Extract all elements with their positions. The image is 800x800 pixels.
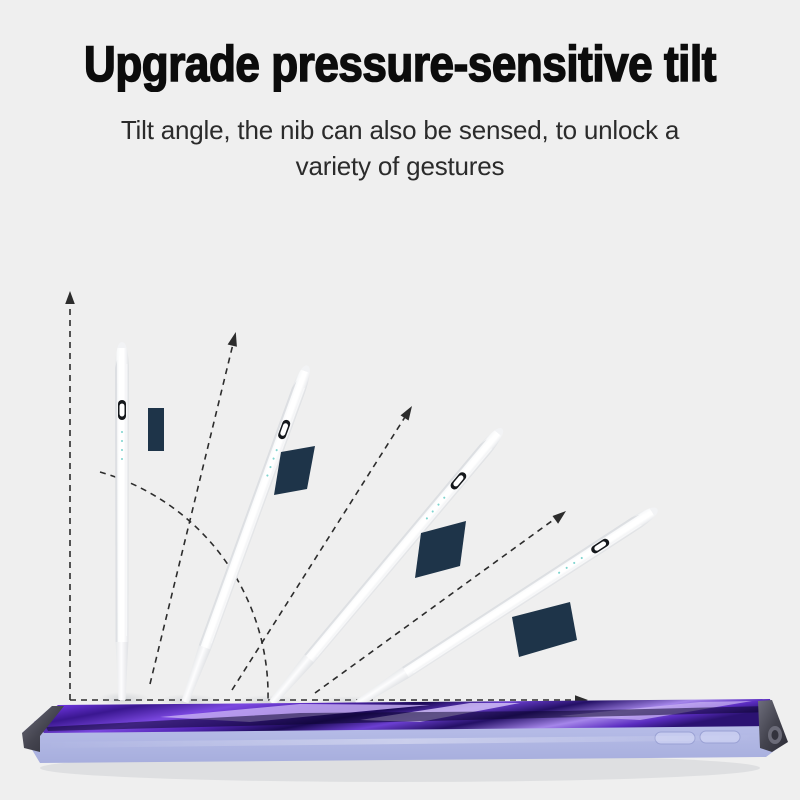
vertical-axis-arrowhead (65, 291, 75, 304)
pen-tilt-slight (179, 363, 314, 704)
tablet-device (22, 699, 788, 782)
stroke-mark-1 (148, 408, 164, 451)
tablet-corner-right (758, 700, 788, 752)
direction-arrow-1 (150, 332, 237, 684)
tilt-illustration (0, 0, 800, 800)
product-feature-banner: Upgrade pressure-sensitive tilt Tilt ang… (0, 0, 800, 800)
stroke-mark-4 (512, 602, 577, 657)
pen-upright (115, 342, 129, 700)
pen-tilt-steep (353, 503, 661, 710)
tablet-port-inner (772, 730, 779, 740)
